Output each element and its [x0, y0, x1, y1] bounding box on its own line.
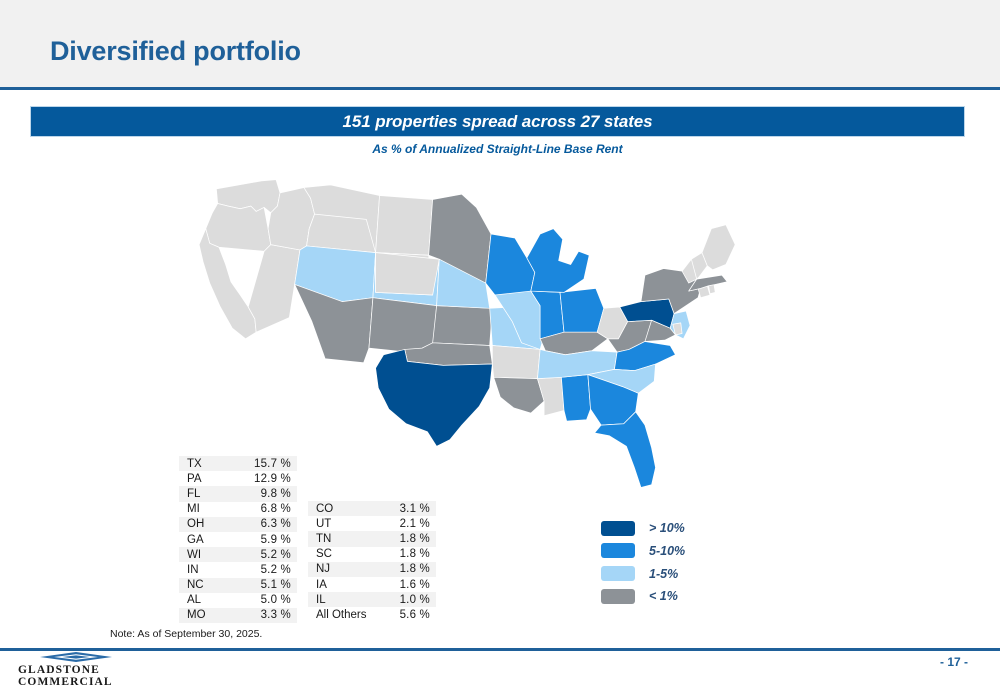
state-percent: 5.6 %	[386, 609, 430, 621]
table-row: TX15.7 %	[179, 456, 297, 471]
map-state-la	[494, 377, 544, 413]
table-row: TN1.8 %	[308, 531, 436, 546]
state-percent: 5.2 %	[249, 549, 291, 561]
map-legend: > 10%5-10%1-5%< 1%	[601, 519, 685, 610]
diamond-logo-icon	[40, 652, 112, 664]
state-percent: 1.6 %	[386, 579, 430, 591]
legend-label: 5-10%	[649, 544, 685, 558]
state-percent: 15.7 %	[249, 458, 291, 470]
header-divider	[0, 87, 1000, 90]
table-row: IN5.2 %	[179, 562, 297, 577]
state-abbr: TX	[187, 458, 249, 470]
map-state-oh	[560, 288, 604, 332]
table-row: NJ1.8 %	[308, 562, 436, 577]
state-abbr: MO	[187, 609, 249, 621]
legend-row: < 1%	[601, 587, 685, 606]
map-state-ks	[433, 306, 493, 346]
legend-row: 1-5%	[601, 564, 685, 583]
state-abbr: UT	[316, 518, 386, 530]
table-row: CO3.1 %	[308, 501, 436, 516]
state-percent: 1.8 %	[386, 548, 430, 560]
legend-row: > 10%	[601, 519, 685, 538]
gladstone-logo: GLADSTONE COMMERCIAL	[12, 652, 172, 688]
state-percent: 1.8 %	[386, 563, 430, 575]
subtitle-text: As % of Annualized Straight-Line Base Re…	[30, 142, 965, 156]
state-percent: 12.9 %	[249, 473, 291, 485]
table-row: PA12.9 %	[179, 471, 297, 486]
table-row: IA1.6 %	[308, 577, 436, 592]
state-percent: 5.1 %	[249, 579, 291, 591]
page-title: Diversified portfolio	[50, 36, 301, 67]
table-row: MO3.3 %	[179, 608, 297, 623]
map-state-mi	[527, 229, 589, 293]
state-percent: 6.8 %	[249, 503, 291, 515]
legend-label: > 10%	[649, 521, 685, 535]
table-row: GA5.9 %	[179, 532, 297, 547]
page-number: - 17 -	[940, 655, 968, 669]
table-row: OH6.3 %	[179, 517, 297, 532]
legend-swatch	[601, 521, 635, 536]
state-abbr: IA	[316, 579, 386, 591]
state-percent: 1.8 %	[386, 533, 430, 545]
headline-text: 151 properties spread across 27 states	[343, 112, 653, 132]
state-abbr: IN	[187, 564, 249, 576]
slide-root: Diversified portfolio 151 properties spr…	[0, 0, 1000, 685]
state-percent: 6.3 %	[249, 518, 291, 530]
map-state-me	[702, 225, 735, 270]
state-abbr: CO	[316, 503, 386, 515]
table-row: FL9.8 %	[179, 486, 297, 501]
state-abbr: AL	[187, 594, 249, 606]
state-abbr: NJ	[316, 563, 386, 575]
state-abbr: FL	[187, 488, 249, 500]
state-abbr: WI	[187, 549, 249, 561]
state-abbr: PA	[187, 473, 249, 485]
legend-row: 5-10%	[601, 542, 685, 561]
state-percent: 3.3 %	[249, 609, 291, 621]
logo-line-1: GLADSTONE	[18, 665, 172, 677]
map-state-ne	[376, 253, 440, 295]
state-abbr: MI	[187, 503, 249, 515]
map-state-wi	[486, 234, 535, 296]
map-state-nv	[248, 245, 300, 333]
legend-label: < 1%	[649, 589, 678, 603]
state-abbr: TN	[316, 533, 386, 545]
state-table-secondary: CO3.1 %UT2.1 %TN1.8 %SC1.8 %NJ1.8 %IA1.6…	[308, 501, 436, 623]
table-row: AL5.0 %	[179, 593, 297, 608]
headline-banner: 151 properties spread across 27 states	[30, 106, 965, 137]
state-percent: 5.9 %	[249, 534, 291, 546]
table-row: IL1.0 %	[308, 592, 436, 607]
state-percent: 1.0 %	[386, 594, 430, 606]
state-percent: 9.8 %	[249, 488, 291, 500]
table-row: SC1.8 %	[308, 547, 436, 562]
state-abbr: SC	[316, 548, 386, 560]
footer-divider	[0, 648, 1000, 651]
map-state-al	[561, 375, 590, 421]
logo-line-2: COMMERCIAL	[18, 677, 172, 688]
table-row: UT2.1 %	[308, 516, 436, 531]
state-abbr: All Others	[316, 609, 386, 621]
state-percent: 5.2 %	[249, 564, 291, 576]
state-percent: 2.1 %	[386, 518, 430, 530]
state-abbr: GA	[187, 534, 249, 546]
state-abbr: OH	[187, 518, 249, 530]
map-state-ar	[492, 345, 540, 378]
map-state-or	[206, 203, 271, 251]
legend-swatch	[601, 543, 635, 558]
state-table-primary: TX15.7 %PA12.9 %FL9.8 %MI6.8 %OH6.3 %GA5…	[179, 456, 297, 623]
legend-swatch	[601, 566, 635, 581]
state-percent: 3.1 %	[386, 503, 430, 515]
state-percent: 5.0 %	[249, 594, 291, 606]
table-row: WI5.2 %	[179, 547, 297, 562]
table-row: All Others5.6 %	[308, 607, 436, 622]
state-abbr: NC	[187, 579, 249, 591]
legend-swatch	[601, 589, 635, 604]
footnote: Note: As of September 30, 2025.	[110, 628, 262, 640]
state-abbr: IL	[316, 594, 386, 606]
table-row: NC5.1 %	[179, 578, 297, 593]
table-row: MI6.8 %	[179, 502, 297, 517]
map-state-nd	[376, 196, 433, 256]
legend-label: 1-5%	[649, 567, 678, 581]
slide-header: Diversified portfolio	[0, 0, 1000, 87]
